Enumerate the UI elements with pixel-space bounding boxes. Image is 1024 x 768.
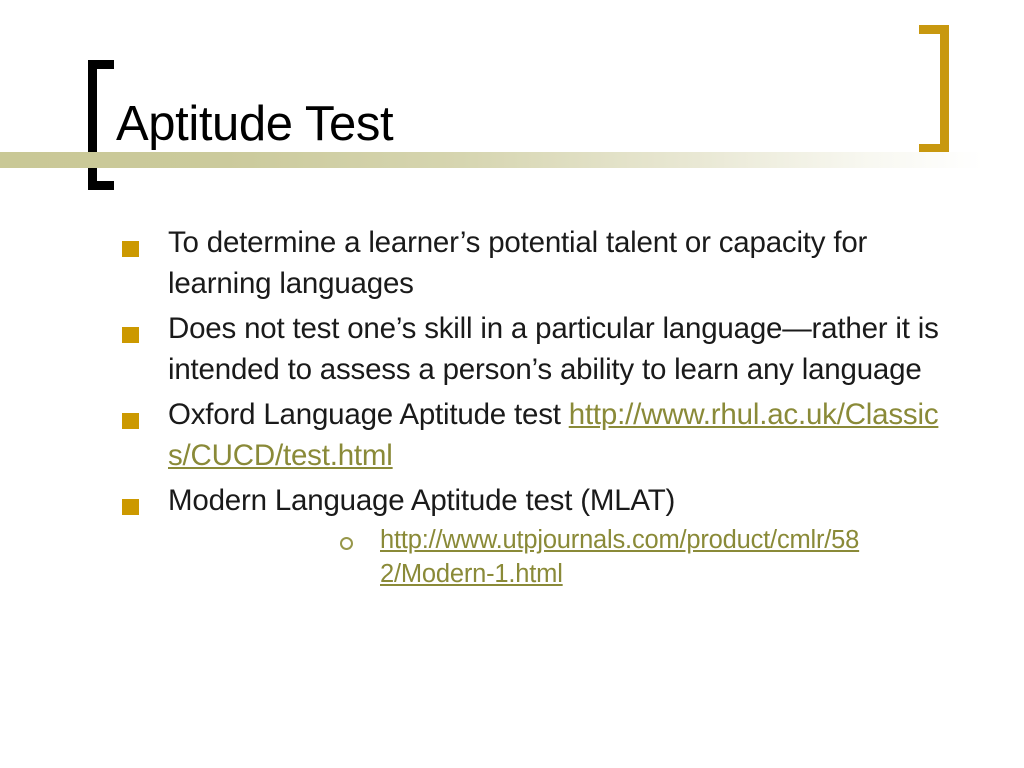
list-item: To determine a learner’s potential talen…: [0, 222, 1024, 304]
sub-list-item: http://www.utpjournals.com/product/cmlr/…: [168, 523, 940, 591]
square-bullet-icon: [122, 413, 139, 429]
square-bullet-icon: [122, 241, 139, 257]
list-item-text: Oxford Language Aptitude test http://www…: [168, 394, 940, 476]
title-block: Aptitude Test: [0, 0, 1024, 200]
title-rule: [0, 152, 1024, 168]
list-item-text: To determine a learner’s potential talen…: [168, 222, 940, 304]
list-item: Does not test one’s skill in a particula…: [0, 308, 1024, 390]
close-bracket-icon: [919, 25, 949, 153]
list-item-text: Modern Language Aptitude test (MLAT): [168, 480, 940, 521]
sub-list-item-text: http://www.utpjournals.com/product/cmlr/…: [380, 523, 860, 591]
square-bullet-icon: [122, 499, 139, 515]
list-item: Oxford Language Aptitude test http://www…: [0, 394, 1024, 476]
slide: Aptitude Test To determine a learner’s p…: [0, 0, 1024, 768]
bullet-list: To determine a learner’s potential talen…: [0, 222, 1024, 595]
square-bullet-icon: [122, 327, 139, 343]
circle-bullet-icon: [340, 537, 353, 550]
open-bracket-icon: [88, 60, 114, 190]
list-item-label: Oxford Language Aptitude test: [168, 398, 569, 431]
list-item: Modern Language Aptitude test (MLAT) htt…: [0, 480, 1024, 591]
page-title: Aptitude Test: [116, 96, 393, 152]
hyperlink-mlat[interactable]: http://www.utpjournals.com/product/cmlr/…: [380, 526, 859, 588]
list-item-text: Does not test one’s skill in a particula…: [168, 308, 940, 390]
